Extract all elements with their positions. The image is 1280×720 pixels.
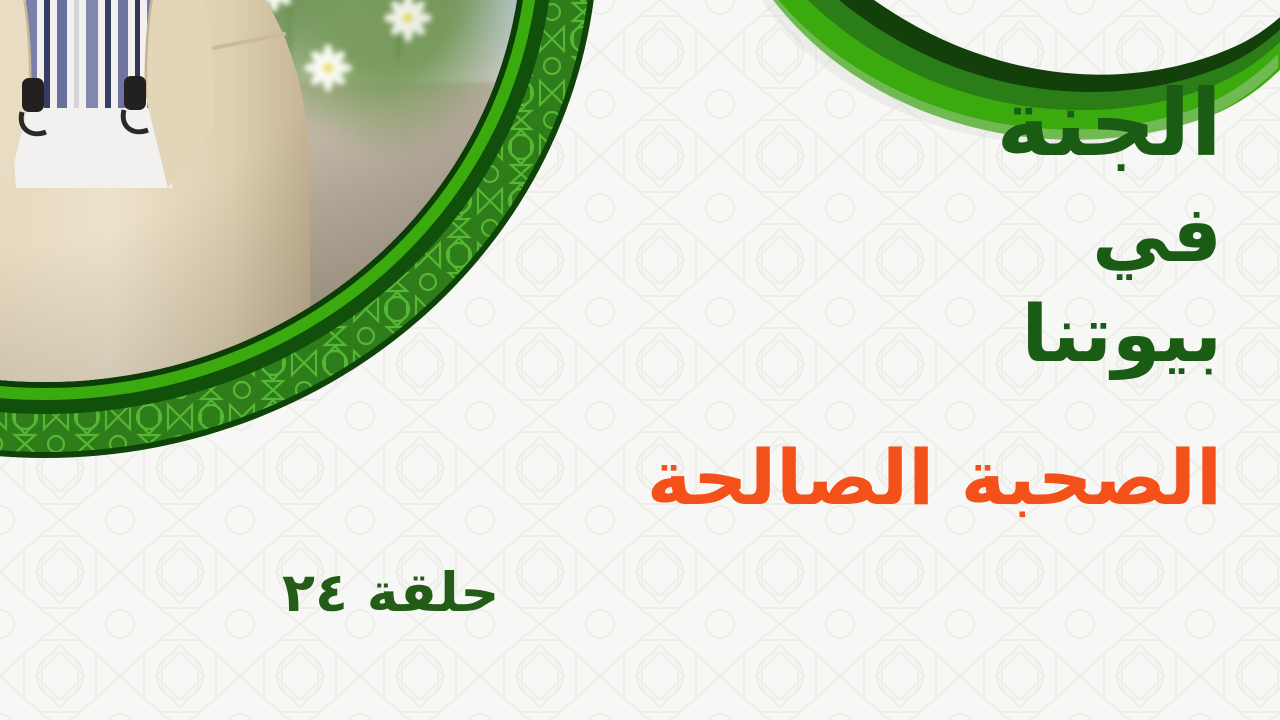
title-line-1: الجنة — [582, 78, 1222, 170]
subtitle-text: الصحبة الصالحة — [522, 440, 1222, 516]
video-vignette — [0, 0, 522, 382]
video-still — [0, 0, 522, 382]
title-card: الجنة في بيوتنا الصحبة الصالحة حلقة ٢٤ — [0, 0, 1280, 720]
title-line-3: بيوتنا — [582, 296, 1222, 374]
episode-label: حلقة ٢٤ — [282, 566, 499, 620]
title-line-2: في — [582, 196, 1222, 274]
title-block: الجنة في بيوتنا — [582, 78, 1222, 404]
